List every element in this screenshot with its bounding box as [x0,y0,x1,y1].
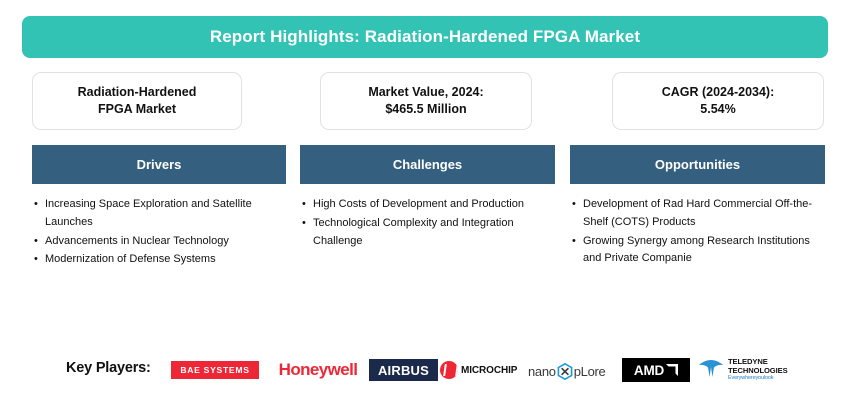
teledyne-logo-text: TELEDYNE TECHNOLOGIES Everywhereyoulook [728,358,788,381]
airbus-logo-text: AIRBUS [378,363,429,378]
teledyne-tagline: Everywhereyoulook [728,376,788,381]
report-header-banner: Report Highlights: Radiation-Hardened FP… [22,16,828,58]
airbus-logo: AIRBUS [369,359,438,381]
list-item: High Costs of Development and Production [300,196,555,214]
honeywell-logo-text: Honeywell [279,360,358,380]
amd-logo: AMD [622,358,690,382]
stat-text-market-name: Radiation-Hardened FPGA Market [78,84,197,118]
bullet-list-drivers: Increasing Space Exploration and Satelli… [32,184,286,269]
stat-box-market-name: Radiation-Hardened FPGA Market [32,72,242,130]
column-header-label-opportunities: Opportunities [655,157,740,172]
list-item: Technological Complexity and Integration… [300,215,555,251]
bullet-list-opportunities: Development of Rad Hard Commercial Off-t… [570,184,825,268]
list-item: Growing Synergy among Research Instituti… [570,233,825,269]
list-item: Advancements in Nuclear Technology [32,233,286,251]
column-header-label-drivers: Drivers [137,157,182,172]
column-header-drivers: Drivers [32,145,286,184]
column-header-challenges: Challenges [300,145,555,184]
bae-systems-logo: BAE SYSTEMS [171,361,259,379]
stats-row: Radiation-Hardened FPGA Market Market Va… [0,72,850,130]
page-title: Report Highlights: Radiation-Hardened FP… [210,28,640,47]
bullet-list-challenges: High Costs of Development and Production… [300,184,555,250]
list-item: Modernization of Defense Systems [32,251,286,269]
column-header-opportunities: Opportunities [570,145,825,184]
stat-box-cagr: CAGR (2024-2034): 5.54% [612,72,824,130]
column-challenges: Challenges High Costs of Development and… [300,145,555,251]
stat-text-cagr: CAGR (2024-2034): 5.54% [662,84,775,118]
teledyne-line1: TELEDYNE [728,358,788,366]
microchip-mark-icon [440,361,458,379]
nanoxplore-logo-text-before: nano [528,364,556,379]
honeywell-logo: Honeywell [268,358,368,382]
column-drivers: Drivers Increasing Space Exploration and… [32,145,286,270]
list-item: Increasing Space Exploration and Satelli… [32,196,286,232]
stat-box-market-value: Market Value, 2024: $465.5 Million [320,72,532,130]
bae-systems-logo-text: BAE SYSTEMS [180,365,249,375]
teledyne-mark-icon [698,358,724,383]
microchip-logo-text: MICROCHIP [461,365,517,376]
teledyne-logo: TELEDYNE TECHNOLOGIES Everywhereyoulook [698,357,814,383]
amd-arrow-icon [666,364,678,376]
column-opportunities: Opportunities Development of Rad Hard Co… [570,145,825,269]
teledyne-line2: TECHNOLOGIES [728,367,788,375]
nanoxplore-hexagon-icon [557,363,573,380]
columns-section: Drivers Increasing Space Exploration and… [0,145,850,285]
list-item: Development of Rad Hard Commercial Off-t… [570,196,825,232]
key-players-label: Key Players: [66,360,151,376]
nanoxplore-logo: nano pLore [528,361,614,381]
nanoxplore-logo-text-after: pLore [574,364,606,379]
stat-text-market-value: Market Value, 2024: $465.5 Million [368,84,483,118]
column-header-label-challenges: Challenges [393,157,462,172]
amd-logo-text: AMD [634,363,664,378]
